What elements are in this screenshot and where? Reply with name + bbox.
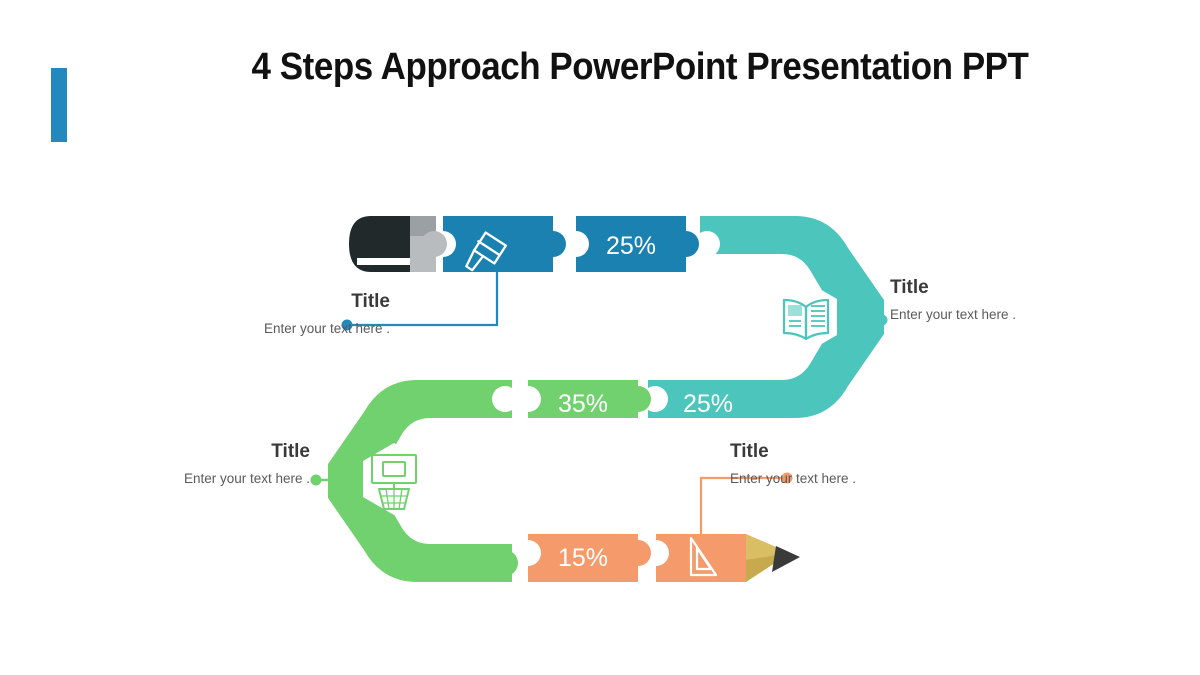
step-orange-group: 15% bbox=[528, 473, 800, 583]
green-bracket-arm bbox=[311, 380, 519, 582]
label-step-green: Title Enter your text here . bbox=[60, 442, 310, 486]
label-body: Enter your text here . bbox=[890, 307, 1160, 322]
label-step-blue: Title Enter your text here . bbox=[120, 292, 390, 336]
label-title: Title bbox=[120, 292, 390, 313]
step-blue-group: 25% bbox=[342, 216, 700, 331]
step-green-percent: 35% bbox=[558, 390, 608, 418]
four-steps-puzzle-diagram: 25% bbox=[0, 0, 1200, 675]
label-title: Title bbox=[730, 442, 990, 463]
label-title: Title bbox=[890, 278, 1160, 299]
label-body: Enter your text here . bbox=[60, 471, 310, 486]
step-orange-percent: 15% bbox=[558, 544, 608, 572]
label-title: Title bbox=[60, 442, 310, 463]
step-blue-percent: 25% bbox=[606, 232, 656, 260]
teal-leader-dot bbox=[877, 315, 888, 326]
label-step-teal: Title Enter your text here . bbox=[890, 278, 1160, 322]
step-green-group: 35% bbox=[528, 380, 651, 421]
label-step-orange: Title Enter your text here . bbox=[730, 442, 990, 486]
slide-canvas: 4 Steps Approach PowerPoint Presentation… bbox=[0, 0, 1200, 675]
label-body: Enter your text here . bbox=[730, 471, 990, 486]
step-teal-percent: 25% bbox=[683, 390, 733, 418]
green-leader-dot bbox=[311, 475, 322, 486]
eraser-graphic bbox=[349, 216, 447, 272]
label-body: Enter your text here . bbox=[120, 321, 390, 336]
